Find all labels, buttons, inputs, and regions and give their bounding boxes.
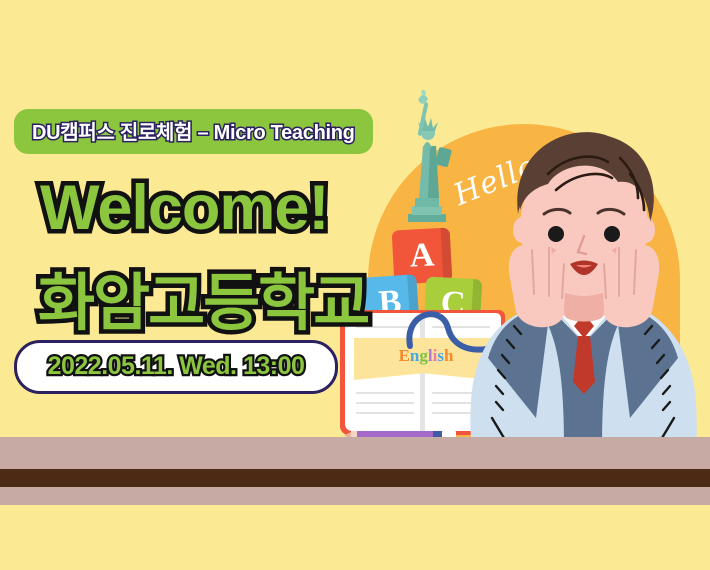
event-badge: DU캠퍼스 진로체험 – Micro Teaching (14, 109, 373, 154)
letter-block-a-label: A (409, 236, 436, 275)
event-badge-label: DU캠퍼스 진로체험 – Micro Teaching (32, 116, 355, 145)
student-illustration (452, 118, 710, 448)
headline-school-name: 화암고등학교 (38, 252, 368, 342)
desk-edge (0, 469, 710, 487)
book-text-line (356, 412, 414, 414)
date-time-label: 2022.05.11. Wed. 13:00 (48, 352, 305, 381)
book-text-line (356, 392, 414, 394)
poster-canvas: Hello A B C English (0, 0, 710, 570)
book-text-line (356, 402, 414, 404)
headline-welcome: Welcome! (40, 172, 328, 244)
date-time-pill: 2022.05.11. Wed. 13:00 (14, 340, 338, 394)
